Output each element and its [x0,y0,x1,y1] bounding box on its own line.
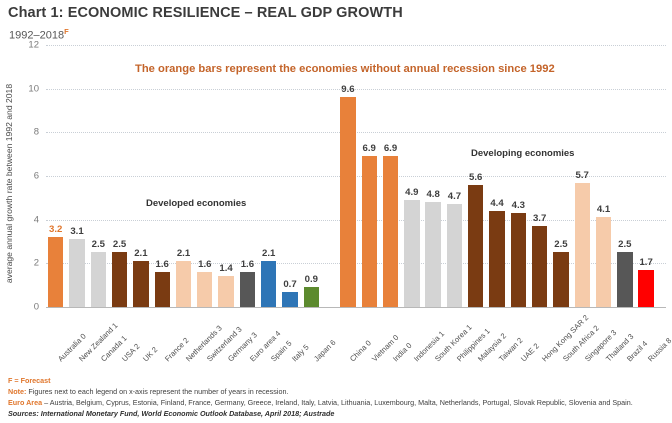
bar[interactable] [617,252,632,307]
x-axis-tick-label: China 0 [348,338,373,363]
y-axis-tick: 2 [34,258,39,269]
bar-column[interactable]: 4.8 [425,202,440,307]
bar-value-label: 1.6 [156,259,169,270]
bar[interactable] [69,239,84,307]
bar[interactable] [638,270,653,307]
bar-column[interactable]: 2.1 [261,261,276,307]
gridline [46,220,666,221]
footnote-forecast: F = Forecast [8,375,668,386]
x-axis-tick-label: Italy 5 [290,343,311,364]
footnote-note-key: Note: [8,387,26,396]
gridline [46,89,666,90]
group-label-developing: Developing economies [471,148,574,159]
bar[interactable] [218,276,233,307]
bar[interactable] [468,185,483,307]
bar-column[interactable]: 2.5 [553,252,568,307]
bar[interactable] [176,261,191,307]
bar-column[interactable]: 1.7 [638,270,653,307]
bar[interactable] [383,156,398,307]
bar-column[interactable]: 2.5 [112,252,127,307]
bar-value-label: 4.8 [426,189,439,200]
bar-column[interactable]: 9.6 [340,97,355,307]
bar[interactable] [575,183,590,307]
y-axis-tick: 4 [34,214,39,225]
bar-column[interactable]: 2.1 [176,261,191,307]
x-axis-tick-label: Russia 8 [646,336,672,363]
bar-value-label: 1.6 [198,259,211,270]
bar[interactable] [240,272,255,307]
bar-value-label: 2.5 [113,239,126,250]
bar-column[interactable]: 2.5 [617,252,632,307]
bar-column[interactable]: 4.3 [511,213,526,307]
footnote-sources: Sources: International Monetary Fund, Wo… [8,408,668,419]
bar-value-label: 4.7 [448,191,461,202]
bar[interactable] [404,200,419,307]
gridline [46,45,666,46]
bar[interactable] [553,252,568,307]
y-axis-tick: 10 [28,83,39,94]
bar-value-label: 2.5 [618,239,631,250]
bar-column[interactable]: 6.9 [362,156,377,307]
bar[interactable] [304,287,319,307]
bar-column[interactable]: 5.7 [575,183,590,307]
y-axis-title: average annual growth rate between 1992 … [4,52,18,315]
bar-value-label: 5.6 [469,172,482,183]
bar-column[interactable]: 4.7 [447,204,462,307]
orange-bars-annotation: The orange bars represent the economies … [135,63,555,75]
footnote-euro-area: Euro Area – Austria, Belgium, Cyprus, Es… [8,397,668,408]
y-axis-tick: 8 [34,127,39,138]
bar[interactable] [155,272,170,307]
bar-column[interactable]: 1.4 [218,276,233,307]
bar-value-label: 4.1 [597,204,610,215]
gridline [46,132,666,133]
bar-value-label: 1.6 [241,259,254,270]
bar-value-label: 4.4 [490,198,503,209]
bar-value-label: 2.1 [177,248,190,259]
bar-value-label: 1.7 [639,257,652,268]
bar[interactable] [340,97,355,307]
bar-value-label: 2.5 [92,239,105,250]
y-axis-tick: 12 [28,40,39,51]
bar-column[interactable]: 3.2 [48,237,63,307]
bar-column[interactable]: 0.9 [304,287,319,307]
bar-column[interactable]: 3.7 [532,226,547,307]
forecast-marker: F [64,27,69,36]
bar-column[interactable]: 4.1 [596,217,611,307]
bar[interactable] [197,272,212,307]
bar-column[interactable]: 4.9 [404,200,419,307]
bar[interactable] [91,252,106,307]
bar-value-label: 4.9 [405,187,418,198]
bar[interactable] [282,292,297,307]
bar[interactable] [425,202,440,307]
bar-value-label: 3.2 [49,224,62,235]
bar-value-label: 0.9 [305,274,318,285]
bar-column[interactable]: 6.9 [383,156,398,307]
x-axis-tick-label: Japan 6 [312,338,337,363]
y-axis-tick: 6 [34,171,39,182]
bar[interactable] [48,237,63,307]
bar-column[interactable]: 5.6 [468,185,483,307]
footnote-note: Note: Figures next to each legend on x-a… [8,386,668,397]
bar[interactable] [489,211,504,307]
bar-value-label: 2.5 [554,239,567,250]
footnote-note-text: Figures next to each legend on x-axis re… [26,387,288,396]
bar[interactable] [133,261,148,307]
bar-column[interactable]: 1.6 [197,272,212,307]
bar-column[interactable]: 2.1 [133,261,148,307]
footnotes: F = Forecast Note: Figures next to each … [8,375,668,419]
bar-column[interactable]: 4.4 [489,211,504,307]
bar-value-label: 9.6 [341,84,354,95]
footnote-euro-key: Euro Area [8,398,42,407]
bar-column[interactable]: 0.7 [282,292,297,307]
x-axis-line [46,307,666,308]
footnote-euro-text: – Austria, Belgium, Cyprus, Estonia, Fin… [42,398,633,407]
bar-value-label: 6.9 [384,143,397,154]
bar[interactable] [362,156,377,307]
bar[interactable] [261,261,276,307]
y-axis-tick: 0 [34,302,39,313]
bar-value-label: 2.1 [262,248,275,259]
bar[interactable] [532,226,547,307]
bar-value-label: 0.7 [283,279,296,290]
plot-area: 024681012 3.23.12.52.52.11.62.11.61.41.6… [46,45,666,308]
bar-value-label: 4.3 [512,200,525,211]
gridline [46,176,666,177]
bar-column[interactable]: 1.6 [155,272,170,307]
bar-value-label: 5.7 [576,170,589,181]
bar-column[interactable]: 2.5 [91,252,106,307]
bar-value-label: 6.9 [363,143,376,154]
bar-value-label: 2.1 [134,248,147,259]
group-label-developed: Developed economies [146,198,246,209]
bar[interactable] [511,213,526,307]
bar[interactable] [447,204,462,307]
x-axis-tick-label: UK 2 [141,345,159,363]
bar-value-label: 3.1 [70,226,83,237]
bar-value-label: 1.4 [219,263,232,274]
bar[interactable] [596,217,611,307]
bar[interactable] [112,252,127,307]
bar-column[interactable]: 1.6 [240,272,255,307]
bar-value-label: 3.7 [533,213,546,224]
bar-column[interactable]: 3.1 [69,239,84,307]
page-title: Chart 1: ECONOMIC RESILIENCE – REAL GDP … [8,5,403,21]
